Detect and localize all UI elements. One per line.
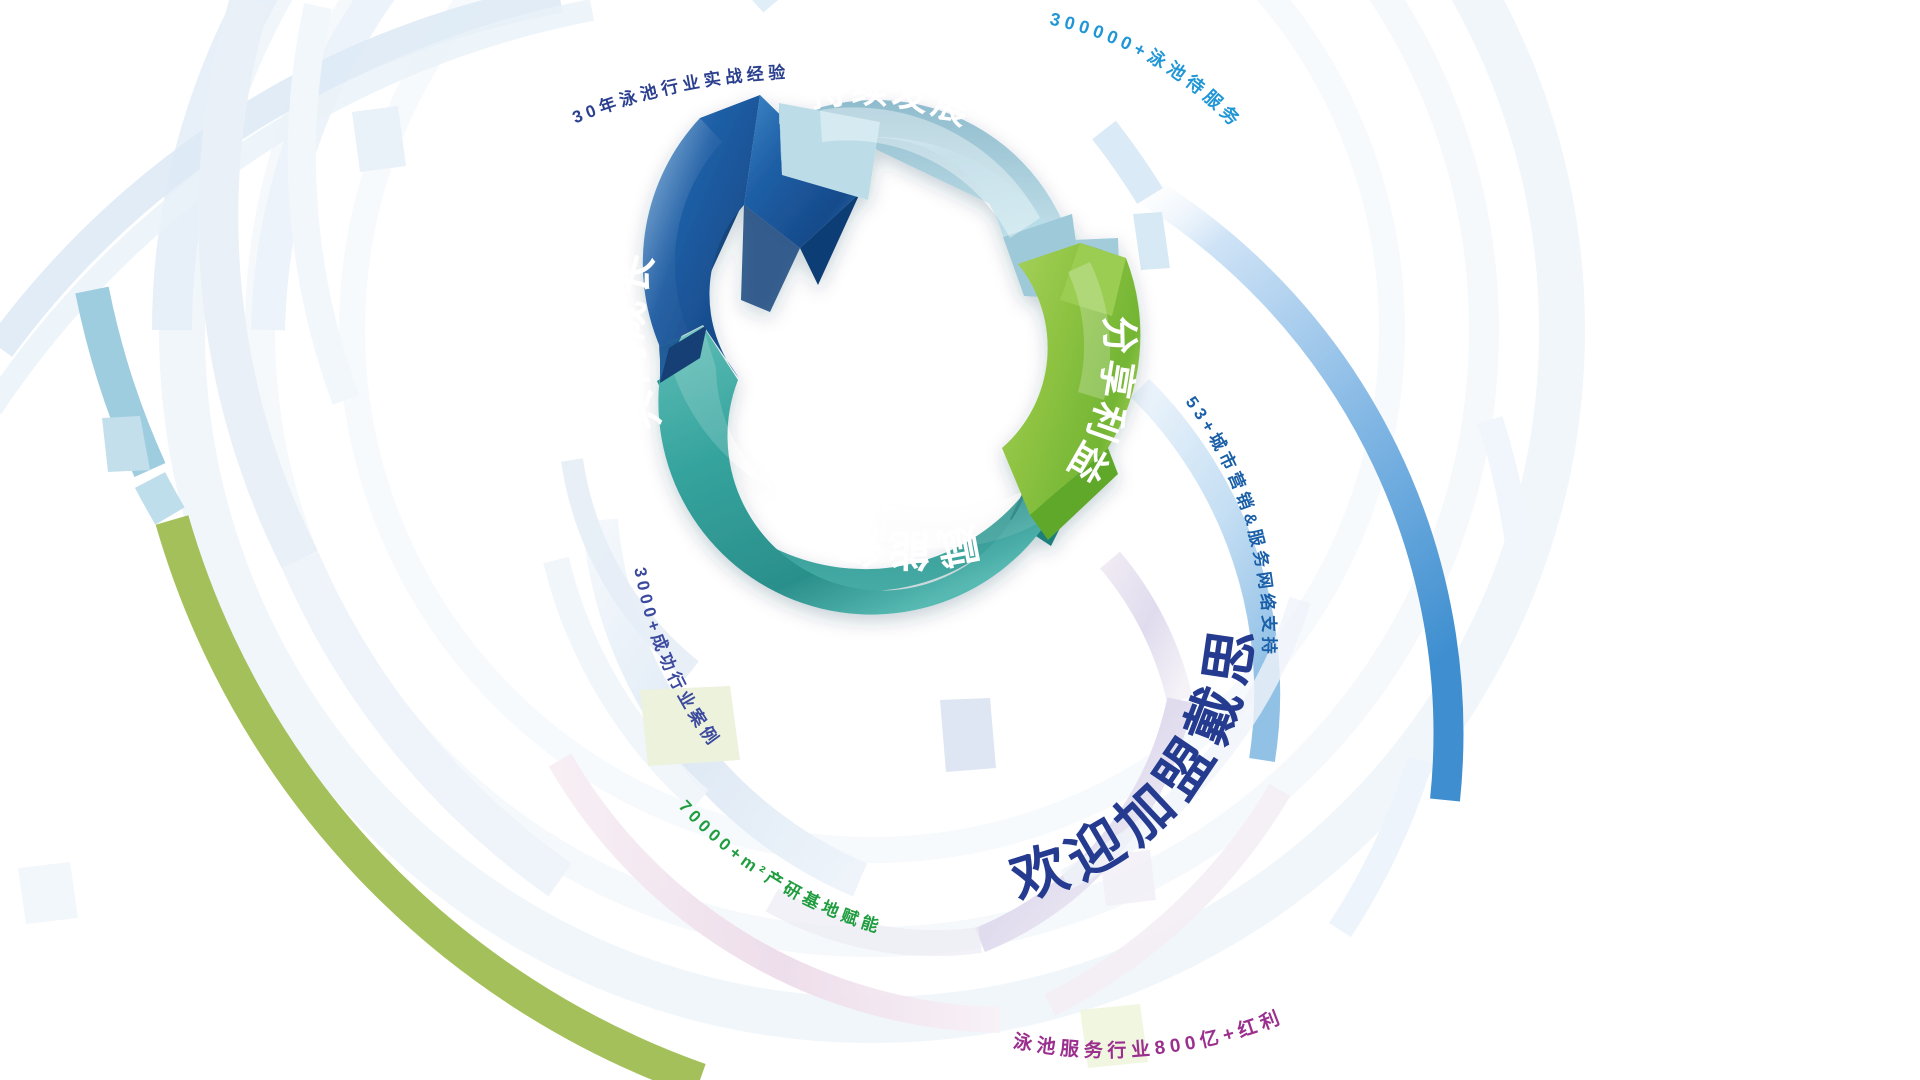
infographic-canvas: 共同成长 持续发展 分享利益 赋能行业 30年泳池行业实战经验	[0, 0, 1920, 1080]
hero-welcome-join: 欢迎加盟戴思乐	[0, 0, 1266, 912]
caption-pools: 300000+泳池待服务	[1048, 9, 1247, 132]
caption-base: 70000+m²产研基地赋能	[675, 797, 885, 938]
caption-dividend: 泳池服务行业800亿+红利	[1011, 1006, 1287, 1062]
caption-network: 53+城市营销&服务网络支持	[1182, 393, 1280, 658]
caption-cases: 3000+成功行业案例	[630, 566, 725, 751]
caption-experience: 30年泳池行业实战经验	[570, 62, 790, 127]
caption-layer: 30年泳池行业实战经验 300000+泳池待服务 53+城市营销&服务网络支持 …	[0, 0, 1920, 1080]
